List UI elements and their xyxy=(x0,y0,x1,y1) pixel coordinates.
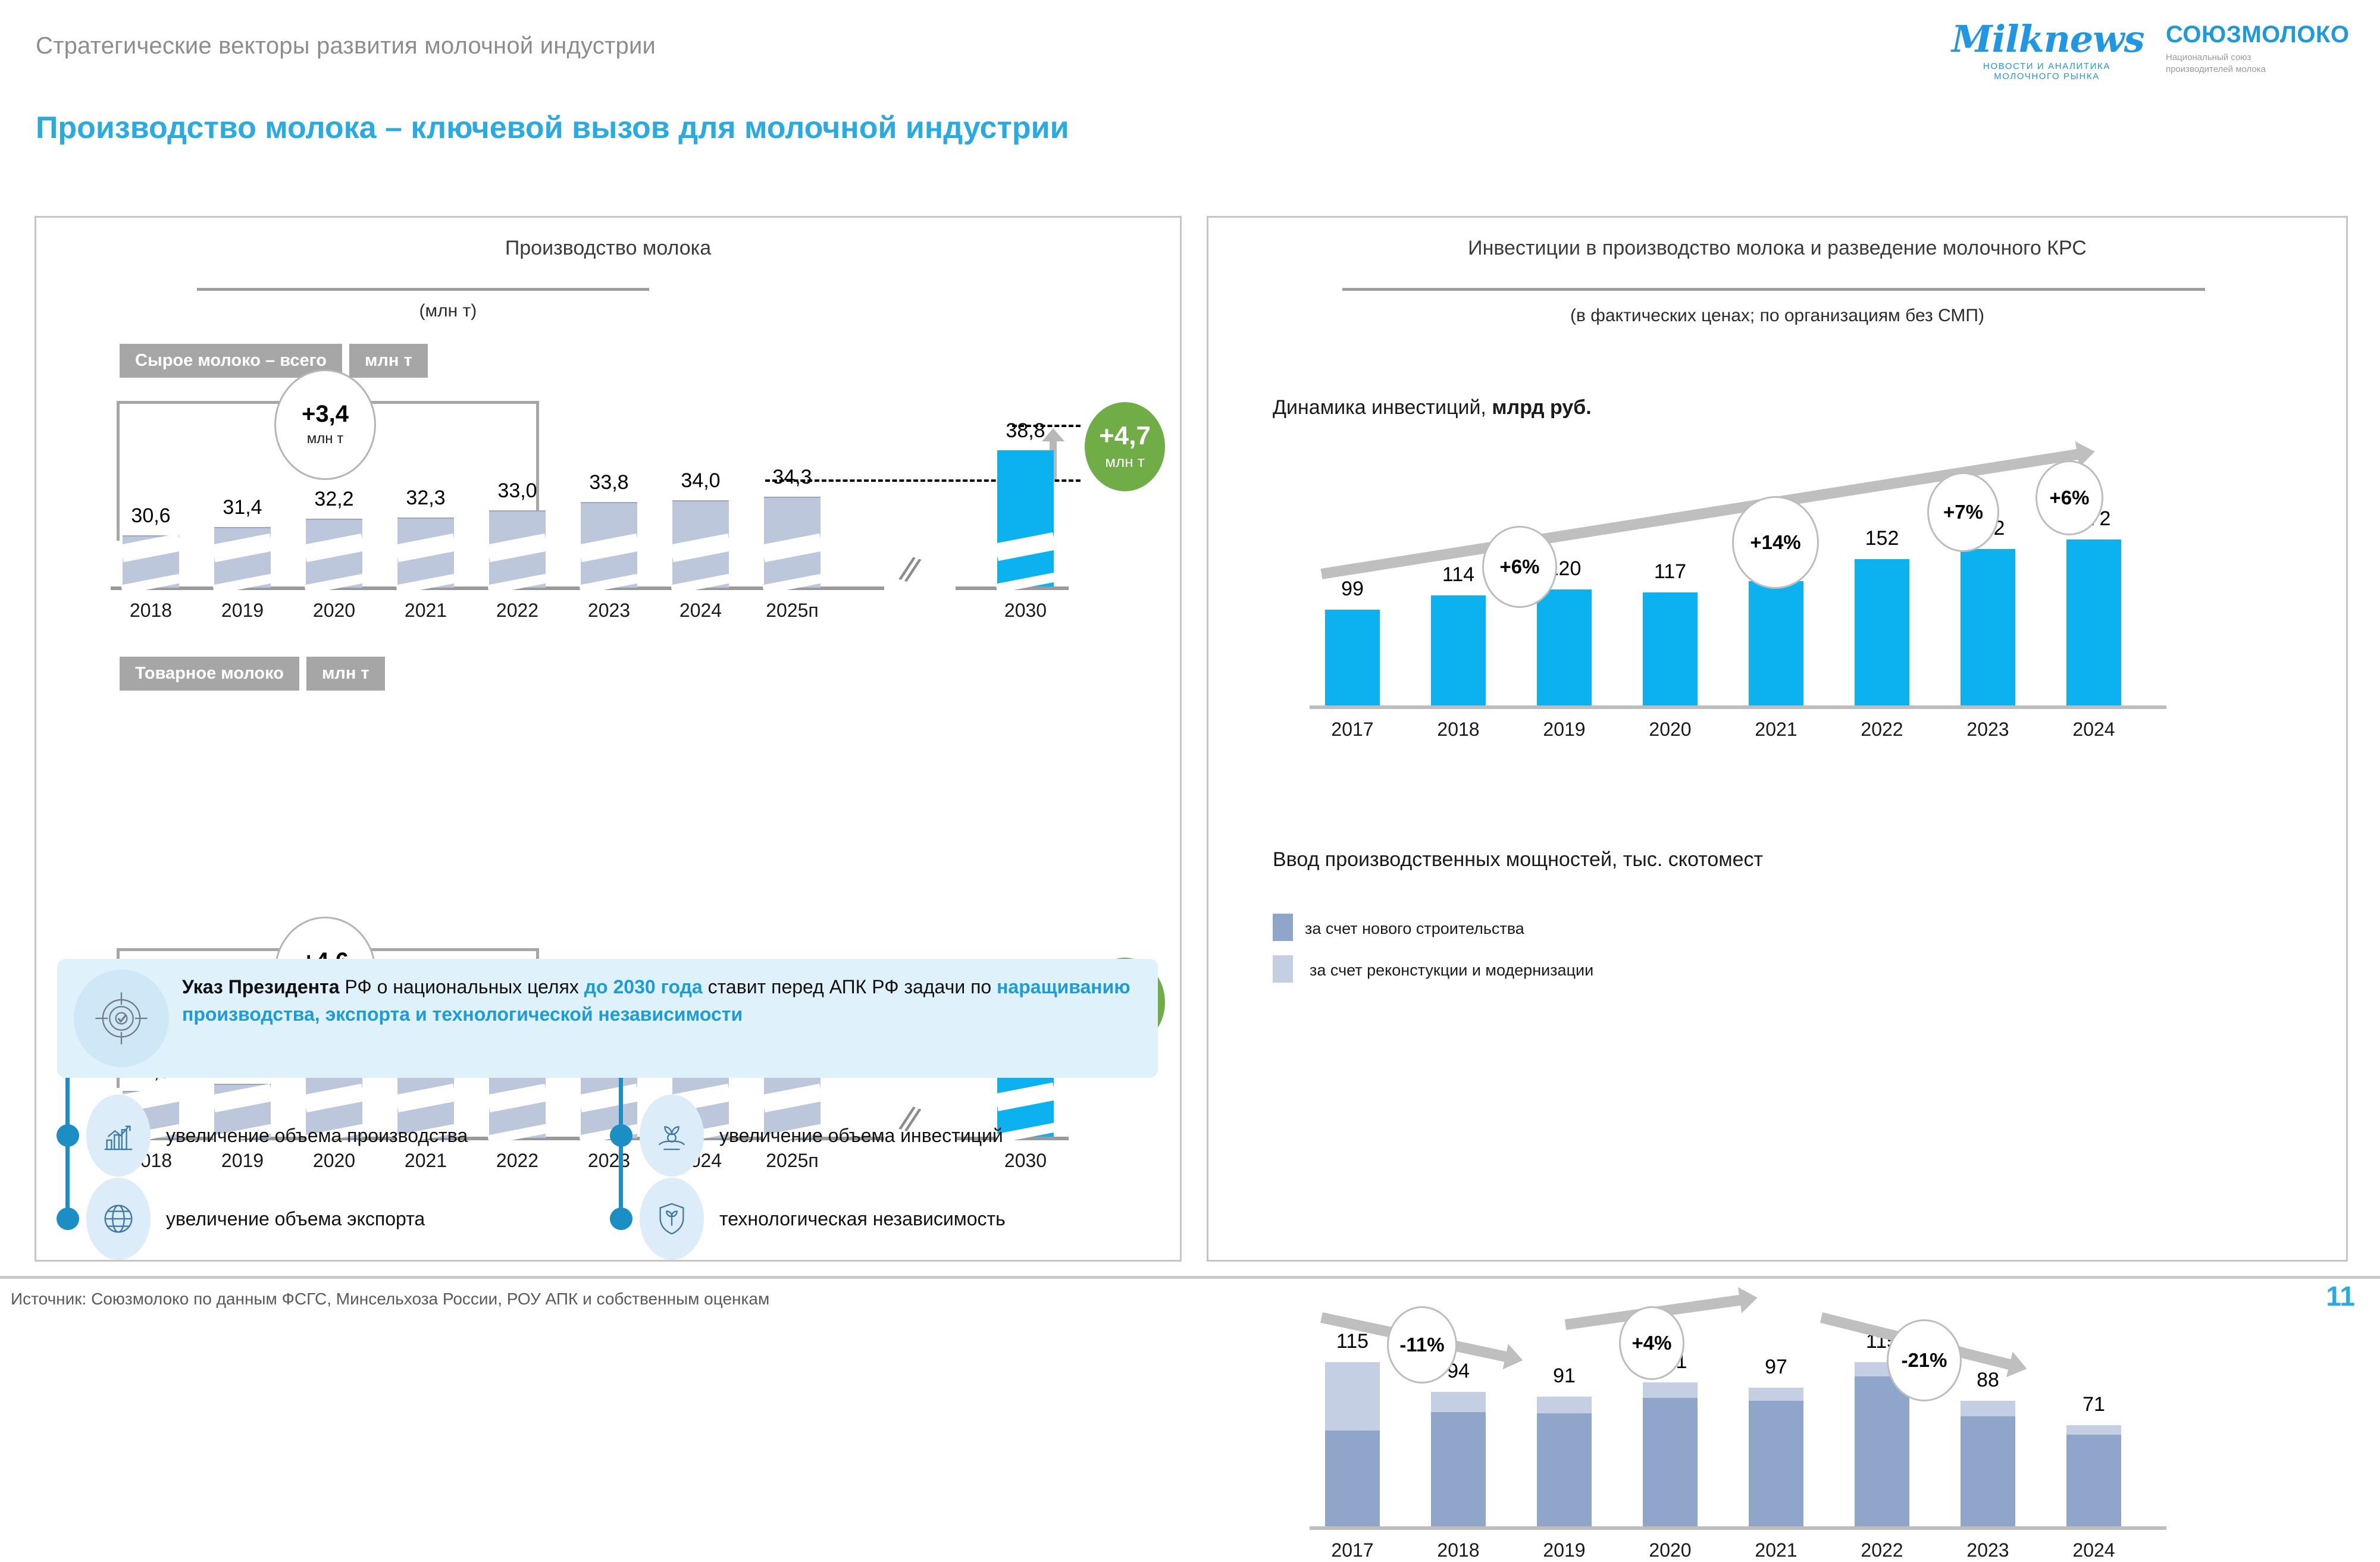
souzmoloko-tagline-2: производителей молока xyxy=(2166,64,2362,76)
feature-item-production[interactable]: увеличение объема производства xyxy=(86,1094,468,1177)
investment-x-label-2017: 2017 xyxy=(1305,719,1400,741)
x-label-2021: 2021 xyxy=(380,600,472,622)
globe-export-icon xyxy=(86,1178,151,1260)
chart2-chip-group: Товарное молокомлн т xyxy=(120,657,385,691)
bar-value-2019: 31,4 xyxy=(199,496,286,519)
capacity-bar-recon-2017 xyxy=(1325,1362,1380,1431)
source-note: Источник: Союзмолоко по данным ФСГС, Мин… xyxy=(11,1290,769,1309)
investment-x-label-2020: 2020 xyxy=(1623,719,1718,741)
bar-2021 xyxy=(397,517,454,588)
souzmoloko-wordmark: СОЮЗМОЛОКО xyxy=(2166,23,2362,46)
bar-2025п xyxy=(764,497,821,588)
right-panel-subtitle: (в фактических ценах; по организациям бе… xyxy=(1208,306,2346,326)
investment-bar-2024 xyxy=(2066,540,2121,705)
capacity-growth-minus21pct: -21% xyxy=(1887,1319,1962,1401)
investment-x-label-2018: 2018 xyxy=(1411,719,1506,741)
presidential-decree-box: Указ Президента РФ о национальных целях … xyxy=(57,959,1158,1078)
investment-x-label-2022: 2022 xyxy=(1834,719,1930,741)
connector-dot-1 xyxy=(57,1124,79,1147)
capacity-x-label-2024: 2024 xyxy=(2046,1539,2141,1561)
capacity-growth-plus4pct: +4% xyxy=(1619,1306,1684,1380)
decree-text-2: ставит перед АПК РФ задачи по xyxy=(703,976,997,998)
souzmoloko-logo: СОЮЗМОЛОКО Национальный союз производите… xyxy=(2166,23,2362,76)
growth-chart-icon xyxy=(86,1094,151,1177)
capacity-section-title: Ввод производственных мощностей, тыс. ск… xyxy=(1273,848,1763,871)
decree-text-1: РФ о национальных целях xyxy=(340,976,584,998)
investment-x-label-2019: 2019 xyxy=(1517,719,1612,741)
bar-2030 xyxy=(997,450,1054,587)
capacity-value-2024: 71 xyxy=(2049,1393,2139,1416)
investment-x-label-2024: 2024 xyxy=(2046,719,2141,741)
connector-dot-4 xyxy=(610,1207,632,1230)
feature-label-production: увеличение объема производства xyxy=(166,1125,468,1147)
bar-value-2018: 30,6 xyxy=(107,504,195,528)
chart1-chip-unit: млн т xyxy=(349,344,428,378)
chart1-delta-unit: млн т xyxy=(307,431,343,447)
feature-item-independence[interactable]: технологическая независимость xyxy=(640,1178,1006,1260)
investment-bar-2023 xyxy=(1961,549,2015,705)
investment-bar-2020 xyxy=(1643,592,1698,705)
decree-highlight-2030: до 2030 года xyxy=(584,976,703,998)
chart1-axis-break: // xyxy=(896,549,920,591)
chart4-baseline xyxy=(1310,1526,2166,1530)
investment-hand-icon xyxy=(640,1094,704,1177)
bar-value-2030: 38,8 xyxy=(982,419,1069,443)
capacity-bar-new-2021 xyxy=(1749,1401,1803,1526)
capacity-bar-recon-2023 xyxy=(1961,1401,2015,1416)
chart3-baseline xyxy=(1310,705,2166,709)
connector-dot-2 xyxy=(57,1207,79,1230)
x-label-2022: 2022 xyxy=(471,600,563,622)
bar-value-2021: 32,3 xyxy=(382,487,469,510)
investment-bar-2019 xyxy=(1537,589,1592,705)
feature-label-export: увеличение объема экспорта xyxy=(166,1208,425,1230)
bar-2023 xyxy=(581,502,637,588)
milknews-wordmark: Milknews xyxy=(1952,21,2142,58)
capacity-bar-new-2020 xyxy=(1643,1398,1698,1526)
capacity-bar-new-2022 xyxy=(1855,1376,1909,1526)
capacity-bar-new-2019 xyxy=(1537,1413,1592,1526)
milknews-tagline: НОВОСТИ И АНАЛИТИКА МОЛОЧНОГО РЫНКА xyxy=(1952,61,2142,81)
left-panel-subtitle: (млн т) xyxy=(36,301,860,321)
decree-text: Указ Президента РФ о национальных целях … xyxy=(182,973,1140,1028)
chart1-green-badge: +4,7 млн т xyxy=(1085,402,1165,491)
feature-label-investment: увеличение объема инвестиций xyxy=(719,1125,1003,1147)
capacity-x-label-2021: 2021 xyxy=(1728,1539,1824,1561)
capacity-bar-new-2018 xyxy=(1431,1412,1486,1526)
investment-growth-plus6pct: +6% xyxy=(2035,460,2103,535)
right-panel: Инвестиции в производство молока и разве… xyxy=(1207,216,2348,1262)
decree-text-bold: Указ Президента xyxy=(182,976,340,998)
capacity-x-label-2020: 2020 xyxy=(1623,1539,1718,1561)
capacity-bar-recon-2021 xyxy=(1749,1388,1803,1401)
raw-milk-chart: +3,4 млн т +4,7 млн т // 30,6201831,4201… xyxy=(36,390,1180,628)
feature-label-independence: технологическая независимость xyxy=(719,1208,1006,1230)
capacity-x-label-2023: 2023 xyxy=(1940,1539,2035,1561)
investment-dynamics-chart: 9920171142018120201911720201292021152202… xyxy=(1208,468,2346,765)
x-label-2030: 2030 xyxy=(979,600,1072,622)
investments-section-title: Динамика инвестиций, млрд руб. xyxy=(1273,396,1592,419)
bar-2020 xyxy=(306,519,362,588)
bar-value-2023: 33,8 xyxy=(565,471,653,494)
x-label-2019: 2019 xyxy=(196,600,289,622)
bar-2022 xyxy=(489,510,546,588)
legend-swatch-reconstruction xyxy=(1273,955,1293,983)
legend-swatch-new-build xyxy=(1273,914,1293,941)
feature-item-investment[interactable]: увеличение объема инвестиций xyxy=(640,1094,1003,1177)
x-label-2024: 2024 xyxy=(654,600,747,622)
bar-2024 xyxy=(672,500,729,588)
bar-2019 xyxy=(214,527,271,588)
investment-value-2020: 117 xyxy=(1625,560,1715,584)
target-icon xyxy=(74,970,169,1067)
page-number: 11 xyxy=(2326,1280,2355,1312)
left-panel-title: Производство молока xyxy=(36,237,1180,260)
chart1-badge-unit: млн т xyxy=(1105,453,1145,471)
capacity-chart: 1152017942018912019101202097202111520228… xyxy=(1208,1288,2346,1562)
chart1-delta-value: +3,4 xyxy=(302,402,349,426)
bar-value-2025п: 34,3 xyxy=(749,466,836,489)
chart1-chip-group: Сырое молоко – всегомлн т xyxy=(120,344,428,378)
milknews-logo: Milknews НОВОСТИ И АНАЛИТИКА МОЛОЧНОГО Р… xyxy=(1952,21,2142,81)
investment-bar-2022 xyxy=(1855,559,1909,705)
footer-divider xyxy=(0,1276,2380,1279)
connector-line-left xyxy=(65,1078,70,1224)
capacity-x-label-2018: 2018 xyxy=(1411,1539,1506,1561)
capacity-growth-minus11pct: -11% xyxy=(1387,1306,1457,1384)
investments-title-text: Динамика инвестиций, xyxy=(1273,396,1492,419)
capacity-bar-new-2017 xyxy=(1325,1431,1380,1526)
investment-bar-2021 xyxy=(1749,581,1803,705)
capacity-bar-recon-2019 xyxy=(1537,1397,1592,1414)
chart1-badge-value: +4,7 xyxy=(1099,423,1151,449)
capacity-bar-recon-2018 xyxy=(1431,1392,1486,1412)
investment-value-2017: 99 xyxy=(1307,578,1398,601)
x-label-2020: 2020 xyxy=(288,600,380,622)
capacity-value-2019: 91 xyxy=(1519,1365,1609,1388)
investment-growth-plus6pct: +6% xyxy=(1482,526,1557,608)
legend-label-reconstruction: за счет реконстукции и модернизации xyxy=(1310,961,1593,980)
capacity-x-label-2019: 2019 xyxy=(1517,1539,1612,1561)
investment-growth-plus7pct: +7% xyxy=(1927,472,1999,552)
shield-plant-icon xyxy=(640,1178,704,1260)
souzmoloko-tagline-1: Национальный союз xyxy=(2166,52,2362,64)
investment-growth-plus14pct: +14% xyxy=(1732,496,1819,589)
investment-x-label-2021: 2021 xyxy=(1728,719,1824,741)
connector-dot-3 xyxy=(610,1124,632,1147)
bar-value-2024: 34,0 xyxy=(657,469,744,493)
capacity-x-label-2017: 2017 xyxy=(1305,1539,1400,1561)
right-panel-divider xyxy=(1342,288,2205,291)
capacity-bar-new-2023 xyxy=(1961,1416,2015,1526)
bar-value-2022: 33,0 xyxy=(474,479,561,503)
investment-bar-2017 xyxy=(1325,610,1380,705)
connector-line-right xyxy=(619,1078,623,1224)
page-title: Производство молока – ключевой вызов для… xyxy=(36,110,1069,146)
bar-2018 xyxy=(123,535,179,588)
x-label-2023: 2023 xyxy=(563,600,655,622)
capacity-bar-new-2024 xyxy=(2066,1435,2121,1526)
legend-label-new-build: за счет нового строительства xyxy=(1305,920,1524,938)
chart2-chip-unit: млн т xyxy=(306,657,385,691)
chart2-chip-label: Товарное молоко xyxy=(120,657,299,691)
feature-item-export[interactable]: увеличение объема экспорта xyxy=(86,1178,425,1260)
bar-value-2020: 32,2 xyxy=(290,488,378,511)
capacity-value-2021: 97 xyxy=(1731,1356,1821,1379)
capacity-bar-recon-2020 xyxy=(1643,1382,1698,1398)
left-panel-divider xyxy=(197,288,649,291)
investment-value-2022: 152 xyxy=(1837,527,1927,550)
x-label-2025п: 2025п xyxy=(746,600,838,622)
capacity-bar-recon-2024 xyxy=(2066,1425,2121,1435)
chart1-delta-note: +3,4 млн т xyxy=(274,369,376,480)
investment-x-label-2023: 2023 xyxy=(1940,719,2035,741)
capacity-x-label-2022: 2022 xyxy=(1834,1539,1930,1561)
x-label-2018: 2018 xyxy=(105,600,197,622)
investments-title-unit: млрд руб. xyxy=(1492,396,1591,419)
x-label-2022: 2022 xyxy=(471,1150,563,1172)
investment-bar-2018 xyxy=(1431,595,1486,705)
slide-kicker: Стратегические векторы развития молочной… xyxy=(36,33,656,59)
right-panel-title: Инвестиции в производство молока и разве… xyxy=(1208,237,2346,260)
